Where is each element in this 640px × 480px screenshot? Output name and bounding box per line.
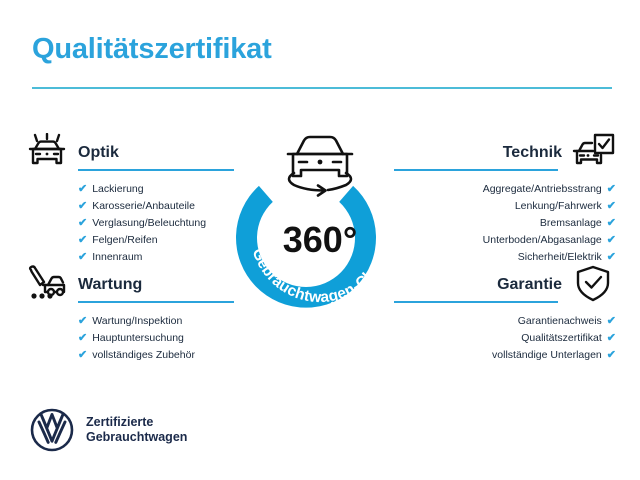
list-item-label: Garantienachweis [518,313,602,330]
footer-line-2: Gebrauchtwagen [86,430,187,445]
check-icon: ✔ [78,350,87,361]
list-item-label: Bremsanlage [540,215,602,232]
list-item-label: Lackierung [92,181,143,198]
badge-360-gebrauchtwagen-check: 360° Gebrauchtwagen-Check [232,124,408,310]
checklist-optik: ✔Lackierung ✔Karosserie/Anbauteile ✔Verg… [24,181,238,266]
car-wrench-service-icon [24,264,70,304]
section-title-wartung: Wartung [78,276,238,294]
section-optik: Optik ✔Lackierung ✔Karosserie/Anbauteile… [24,130,238,266]
car-front-shine-icon [24,132,70,172]
list-item-label: Qualitätszertifikat [521,330,602,347]
check-icon: ✔ [607,218,616,229]
check-icon: ✔ [78,235,87,246]
list-item-label: vollständige Unterlagen [492,347,602,364]
section-underline-optik [78,169,234,171]
list-item: vollständige Unterlagen✔ [402,347,616,364]
list-item-label: Unterboden/Abgasanlage [483,232,602,249]
list-item: ✔Wartung/Inspektion [24,313,238,330]
footer-brand: Zertifizierte Gebrauchtwagen [30,408,187,452]
badge-center-label: 360° [283,219,357,260]
list-item: ✔Lackierung [24,181,238,198]
section-technik: Technik Aggregate/Antriebsstrang✔ Lenkun… [402,130,616,266]
list-item: Bremsanlage✔ [402,215,616,232]
list-item-label: Karosserie/Anbauteile [92,198,195,215]
list-item-label: Felgen/Reifen [92,232,157,249]
car-checkbox-icon [570,132,616,172]
vw-logo-icon [30,408,74,452]
check-icon: ✔ [607,235,616,246]
list-item: Unterboden/Abgasanlage✔ [402,232,616,249]
check-icon: ✔ [78,333,87,344]
footer-brand-text: Zertifizierte Gebrauchtwagen [86,415,187,445]
section-title-garantie: Garantie [402,276,562,294]
list-item-label: Wartung/Inspektion [92,313,182,330]
checklist-garantie: Garantienachweis✔ Qualitätszertifikat✔ v… [402,313,616,364]
check-icon: ✔ [78,218,87,229]
check-icon: ✔ [607,333,616,344]
car-rotate-360-icon [288,137,352,196]
list-item-label: vollständiges Zubehör [92,347,195,364]
list-item: ✔Karosserie/Anbauteile [24,198,238,215]
list-item: Aggregate/Antriebsstrang✔ [402,181,616,198]
shield-check-icon [570,264,616,304]
checklist-wartung: ✔Wartung/Inspektion ✔Hauptuntersuchung ✔… [24,313,238,364]
check-icon: ✔ [607,201,616,212]
check-icon: ✔ [607,184,616,195]
section-wartung: Wartung ✔Wartung/Inspektion ✔Hauptunters… [24,262,238,364]
section-garantie: Garantie Garantienachweis✔ Qualitätszert… [402,262,616,364]
list-item-label: Verglasung/Beleuchtung [92,215,206,232]
list-item-label: Lenkung/Fahrwerk [515,198,602,215]
section-underline-technik [394,169,558,171]
list-item: Garantienachweis✔ [402,313,616,330]
check-icon: ✔ [78,201,87,212]
checklist-technik: Aggregate/Antriebsstrang✔ Lenkung/Fahrwe… [402,181,616,266]
check-icon: ✔ [78,316,87,327]
footer-line-1: Zertifizierte [86,415,187,430]
section-underline-garantie [394,301,558,303]
list-item-label: Aggregate/Antriebsstrang [483,181,602,198]
check-icon: ✔ [607,316,616,327]
list-item: Lenkung/Fahrwerk✔ [402,198,616,215]
list-item: ✔Felgen/Reifen [24,232,238,249]
section-underline-wartung [78,301,234,303]
check-icon: ✔ [78,184,87,195]
list-item: ✔vollständiges Zubehör [24,347,238,364]
list-item: Qualitätszertifikat✔ [402,330,616,347]
page-title: Qualitätszertifikat [32,33,272,66]
section-title-technik: Technik [402,144,562,162]
list-item: ✔Hauptuntersuchung [24,330,238,347]
section-title-optik: Optik [78,144,238,162]
list-item: ✔Verglasung/Beleuchtung [24,215,238,232]
header-divider [32,87,612,89]
check-icon: ✔ [607,350,616,361]
list-item-label: Hauptuntersuchung [92,330,184,347]
